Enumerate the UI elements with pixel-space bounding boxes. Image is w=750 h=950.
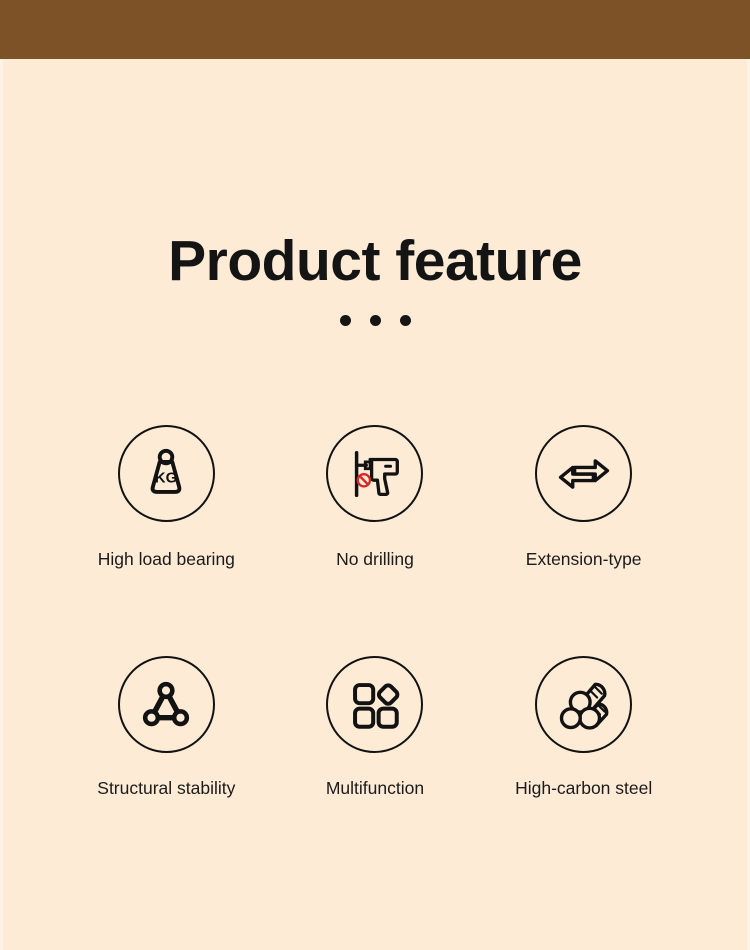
heading-section: Product feature (0, 231, 750, 326)
feature-item-multifunction: Multifunction (271, 656, 480, 799)
feature-label: High load bearing (98, 549, 235, 570)
feature-label: Multifunction (326, 778, 424, 799)
feature-item-no-drilling: No drilling (271, 425, 480, 570)
feature-icon-frame (118, 656, 215, 753)
top-brown-band (0, 0, 750, 59)
feature-label: No drilling (336, 549, 414, 570)
feature-item-extension-type: Extension-type (479, 425, 688, 570)
feature-icon-frame (535, 425, 632, 522)
feature-item-structural-stability: Structural stability (62, 656, 271, 799)
product-feature-page: Product feature KG (0, 0, 750, 950)
divider-dot (340, 315, 351, 326)
feature-grid: KG High load bearing (62, 425, 688, 799)
weight-kg-icon: KG (135, 443, 197, 505)
feature-item-high-load-bearing: KG High load bearing (62, 425, 271, 570)
feature-label: Extension-type (526, 549, 642, 570)
divider-dots (0, 315, 750, 326)
feature-icon-frame (535, 656, 632, 753)
feature-icon-frame (326, 656, 423, 753)
no-drilling-icon (344, 443, 406, 505)
feature-icon-frame (326, 425, 423, 522)
svg-text:KG: KG (155, 469, 178, 486)
divider-dot (370, 315, 381, 326)
triangle-nodes-icon (137, 676, 195, 734)
feature-icon-frame: KG (118, 425, 215, 522)
feature-label: Structural stability (97, 778, 235, 799)
feature-item-high-carbon-steel: High-carbon steel (479, 656, 688, 799)
page-title: Product feature (0, 231, 750, 293)
page-content: Product feature KG (0, 59, 750, 950)
steel-bars-icon (554, 675, 614, 735)
bidirectional-arrow-icon (554, 444, 614, 504)
divider-dot (400, 315, 411, 326)
four-shapes-icon (346, 676, 404, 734)
feature-label: High-carbon steel (515, 778, 652, 799)
